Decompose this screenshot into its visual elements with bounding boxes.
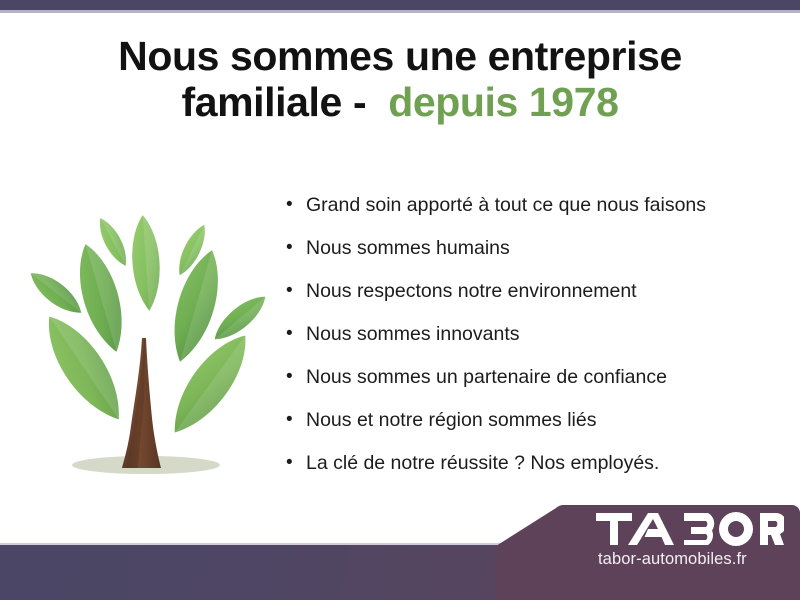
list-item-label: Nous sommes innovants	[306, 321, 520, 347]
title-line-2: familiale - depuis 1978	[40, 80, 760, 126]
title-line-1: Nous sommes une entreprise	[40, 34, 760, 80]
list-item-label: Nous et notre région sommes liés	[306, 407, 596, 433]
list-item-label: Nous sommes humains	[306, 235, 510, 261]
tabor-wordmark	[596, 510, 784, 548]
list-item: • Grand soin apporté à tout ce que nous …	[286, 192, 766, 235]
leaf-top-center	[129, 214, 163, 312]
list-item: • Nous sommes humains	[286, 235, 766, 278]
bullet-marker-icon: •	[286, 278, 306, 304]
list-item-label: Nous sommes un partenaire de confiance	[306, 364, 667, 390]
logo-tagline: tabor-automobiles.fr	[598, 550, 800, 569]
top-accent-band	[0, 0, 800, 10]
bullet-marker-icon: •	[286, 450, 306, 476]
bullet-marker-icon: •	[286, 235, 306, 261]
top-accent-hairline	[0, 10, 800, 13]
bullet-marker-icon: •	[286, 192, 306, 218]
leaf-lower-right	[160, 324, 261, 443]
list-item: • Nous et notre région sommes liés	[286, 407, 766, 450]
bullet-marker-icon: •	[286, 321, 306, 347]
list-item: • La clé de notre réussite ? Nos employé…	[286, 450, 766, 493]
list-item-label: Nous respectons notre environnement	[306, 278, 637, 304]
list-item: • Nous sommes innovants	[286, 321, 766, 364]
brand-logo: tabor-automobiles.fr	[596, 510, 800, 569]
tree-illustration	[18, 188, 274, 488]
slide-canvas: Nous sommes une entreprise familiale - d…	[0, 0, 800, 600]
list-item: • Nous sommes un partenaire de confiance	[286, 364, 766, 407]
leaf-far-left	[25, 265, 88, 320]
bullet-marker-icon: •	[286, 364, 306, 390]
list-item-label: La clé de notre réussite ? Nos employés.	[306, 450, 659, 476]
bullet-list: • Grand soin apporté à tout ce que nous …	[286, 192, 766, 493]
bullet-marker-icon: •	[286, 407, 306, 433]
list-item: • Nous respectons notre environnement	[286, 278, 766, 321]
title-line-2-accent: depuis 1978	[388, 79, 618, 125]
title-line-2-plain: familiale -	[181, 79, 366, 125]
page-title: Nous sommes une entreprise familiale - d…	[40, 34, 760, 126]
list-item-label: Grand soin apporté à tout ce que nous fa…	[306, 192, 706, 218]
